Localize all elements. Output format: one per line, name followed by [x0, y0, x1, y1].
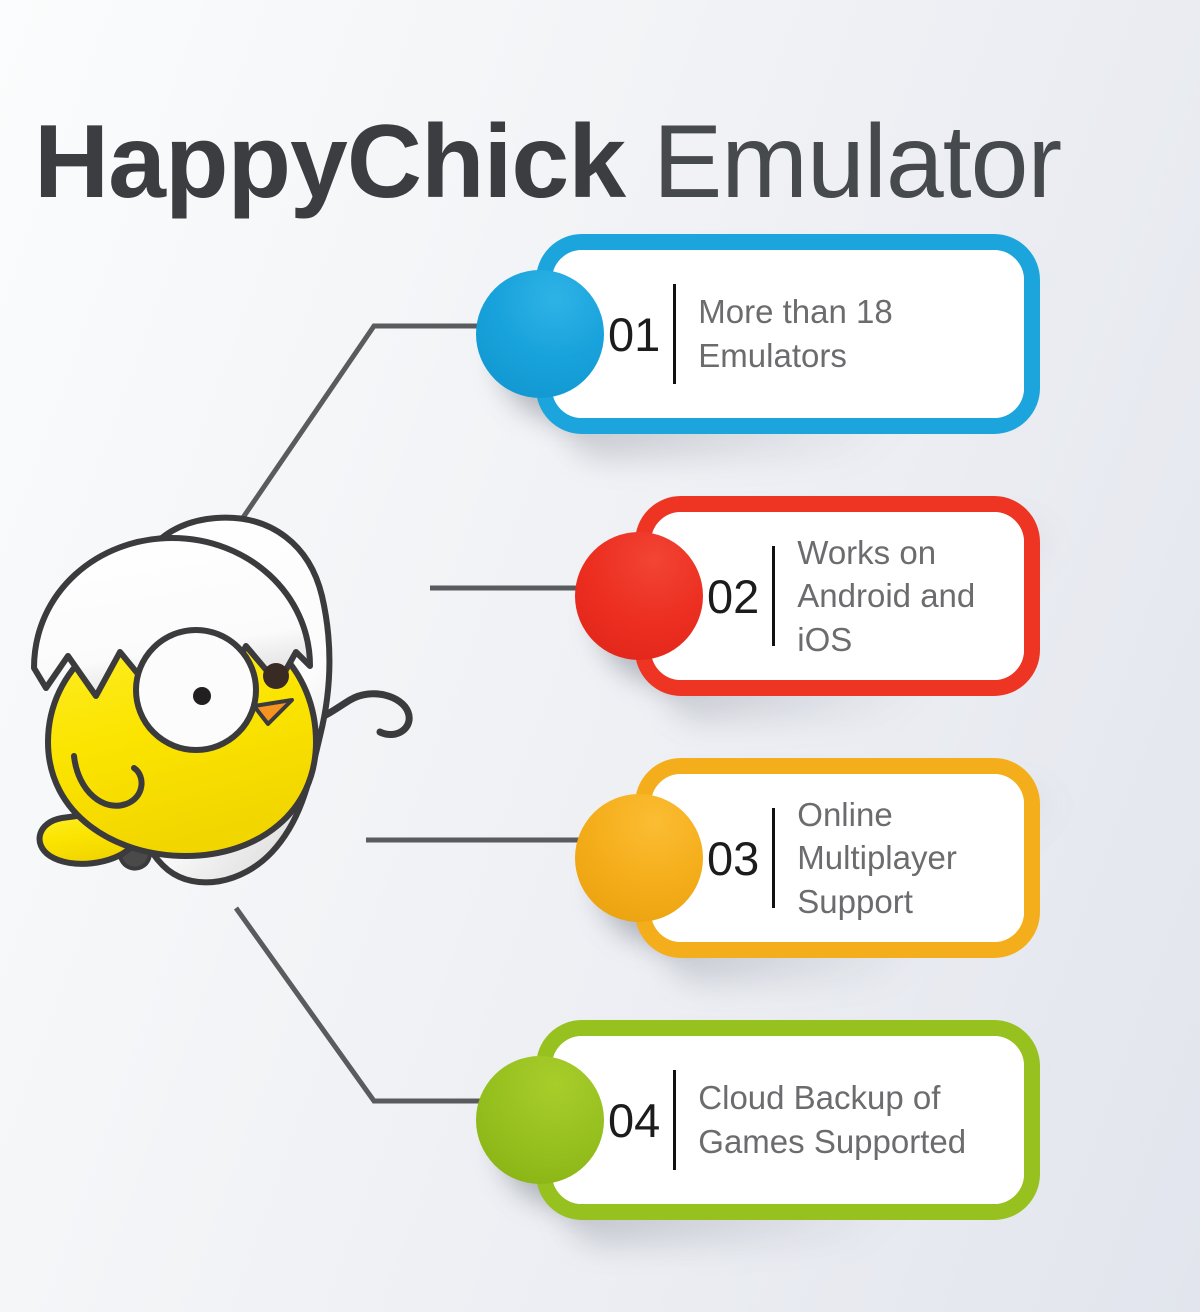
page-title: HappyChick Emulator	[34, 104, 1174, 220]
feature-card-inner: 01 More than 18 Emulators	[552, 250, 1024, 418]
feature-card-inner: 04 Cloud Backup of Games Supported	[552, 1036, 1024, 1204]
feature-divider	[772, 546, 775, 646]
feature-text: Cloud Backup of Games Supported	[698, 1076, 1024, 1163]
feature-divider	[772, 808, 775, 908]
feature-bullet-circle[interactable]	[575, 532, 703, 660]
feature-divider	[673, 284, 676, 384]
mascot-illustration	[10, 500, 540, 930]
feature-bullet-circle[interactable]	[476, 270, 604, 398]
feature-text: Online Multiplayer Support	[797, 793, 1024, 924]
feature-row-3[interactable]: 03 Online Multiplayer Support	[575, 758, 1040, 958]
feature-card[interactable]: 04 Cloud Backup of Games Supported	[536, 1020, 1040, 1220]
feature-bullet-circle[interactable]	[476, 1056, 604, 1184]
chick	[34, 538, 316, 864]
feature-card-inner: 03 Online Multiplayer Support	[651, 774, 1024, 942]
connector-line-4	[236, 908, 512, 1101]
feature-row-2[interactable]: 02 Works on Android and iOS	[575, 496, 1040, 696]
chick-pupil-large	[193, 687, 211, 705]
feature-row-1[interactable]: 01 More than 18 Emulators	[476, 234, 1040, 434]
feature-card-inner: 02 Works on Android and iOS	[651, 512, 1024, 680]
feature-text: More than 18 Emulators	[698, 290, 1024, 377]
feature-divider	[673, 1070, 676, 1170]
feature-row-4[interactable]: 04 Cloud Backup of Games Supported	[476, 1020, 1040, 1220]
page-title-brand: HappyChick	[34, 104, 625, 220]
feature-text: Works on Android and iOS	[797, 531, 1024, 662]
mascot-svg	[10, 500, 540, 930]
page-title-suffix: Emulator	[625, 104, 1061, 220]
feature-card[interactable]: 01 More than 18 Emulators	[536, 234, 1040, 434]
chick-eye-small	[263, 663, 289, 689]
feature-bullet-circle[interactable]	[575, 794, 703, 922]
